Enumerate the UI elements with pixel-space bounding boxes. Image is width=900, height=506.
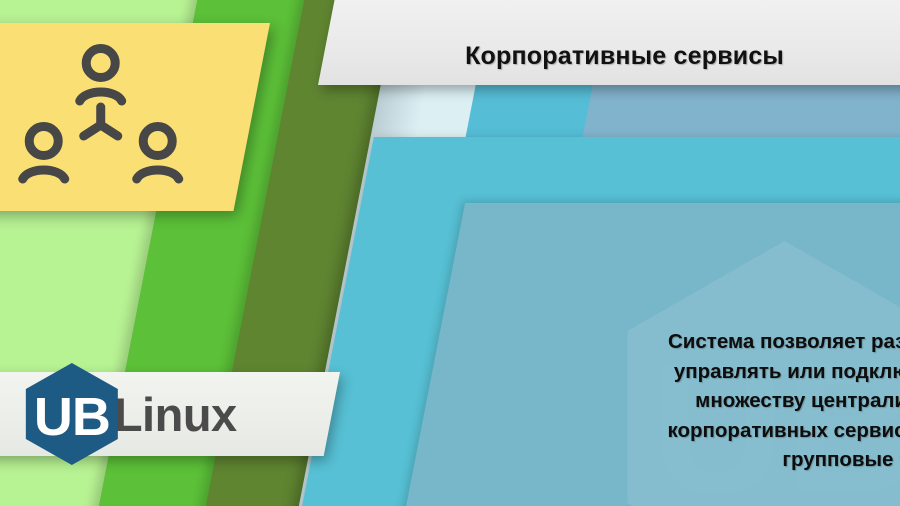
- svg-text:UB: UB: [34, 387, 110, 447]
- logo-wordmark: Linux: [114, 391, 237, 438]
- body-line: групповые чаты и т.д.: [577, 445, 900, 475]
- body-line: корпоративных сервисов: почта,: [577, 416, 900, 446]
- slide-root: Корпоративные сервисы UB Система позволя…: [0, 0, 900, 506]
- body-line: Система позволяет развернуть и: [577, 327, 900, 357]
- content-panel: UB Система позволяет развернуть и управл…: [300, 137, 900, 506]
- body-line: множеству централизованных: [577, 386, 900, 416]
- title-banner: Корпоративные сервисы: [318, 0, 900, 85]
- logo-lockup: UB Linux: [0, 372, 332, 456]
- content-panel-inner: UB Система позволяет развернуть и управл…: [401, 203, 900, 506]
- logo-banner: UB Linux: [0, 372, 340, 456]
- group-users-network-icon: [18, 41, 184, 193]
- icon-card: [0, 23, 270, 211]
- body-line: управлять или подключаться ко: [577, 357, 900, 387]
- page-title: Корпоративные сервисы: [324, 42, 900, 71]
- ub-hexagon-logo-icon: UB: [24, 362, 120, 466]
- group-icon-container: [0, 23, 252, 211]
- body-text: Система позволяет развернуть и управлять…: [577, 327, 900, 475]
